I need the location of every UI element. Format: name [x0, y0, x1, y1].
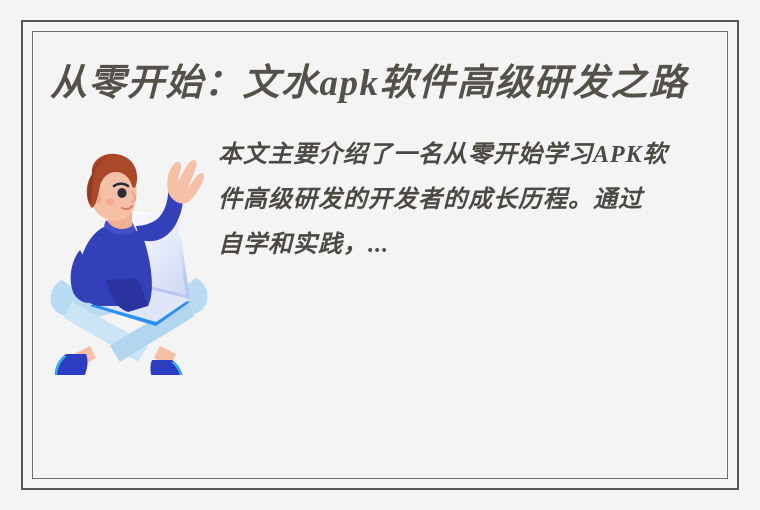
- head-group: [87, 154, 137, 229]
- summary-line-3: 自学和实践，...: [218, 223, 730, 268]
- eye: [117, 188, 126, 198]
- summary-line-2: 件高级研发的开发者的成长历程。通过: [218, 178, 730, 223]
- cheek-blush: [105, 199, 115, 205]
- raised-hand: [167, 160, 204, 203]
- article-summary: 本文主要介绍了一名从零开始学习APK软 件高级研发的开发者的成长历程。通过 自学…: [218, 133, 730, 283]
- person-sitting-with-laptop-illustration: [44, 140, 214, 375]
- summary-line-1: 本文主要介绍了一名从零开始学习APK软: [218, 133, 730, 178]
- illustration-svg: [44, 140, 214, 375]
- article-title: 从零开始：文水apk软件高级研发之路: [50, 57, 700, 111]
- hand-shape: [167, 160, 204, 203]
